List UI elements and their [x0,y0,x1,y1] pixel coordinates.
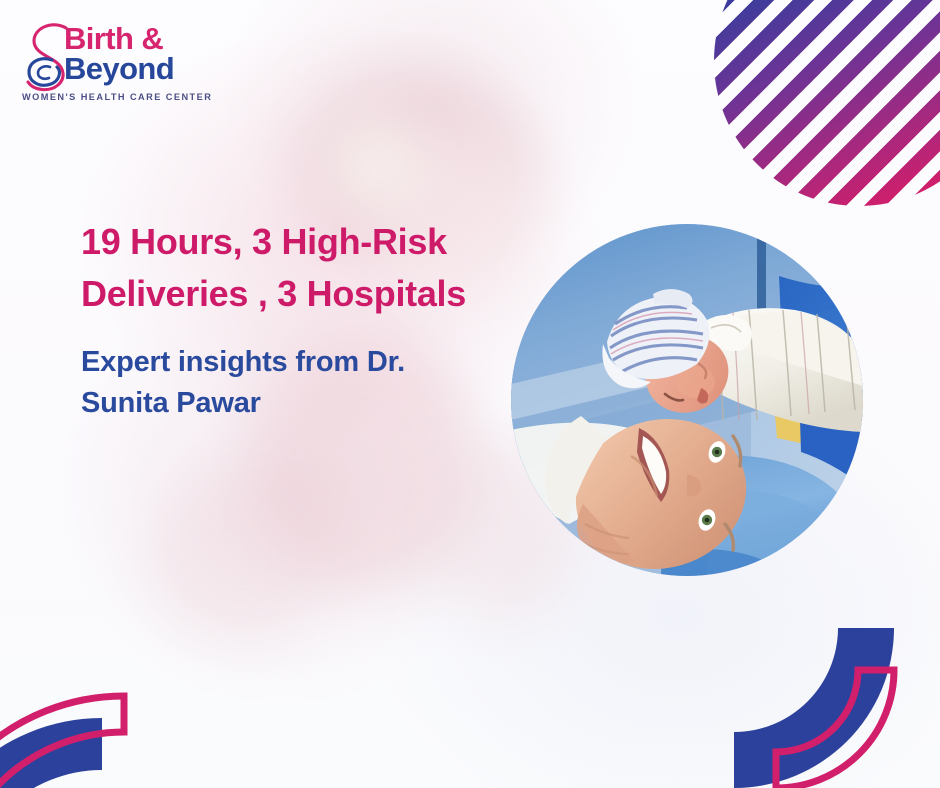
background-watermark-blob [330,120,420,210]
brand-logo: Birth & Beyond WOMEN'S HEALTH CARE CENTE… [18,22,248,108]
copy-block: 19 Hours, 3 High-Risk Deliveries , 3 Hos… [81,216,481,424]
logo-line-beyond: Beyond [64,54,174,84]
social-card-canvas: Birth & Beyond WOMEN'S HEALTH CARE CENTE… [0,0,940,788]
headline: 19 Hours, 3 High-Risk Deliveries , 3 Hos… [81,216,481,320]
bottom-left-arc-decoration [0,598,222,788]
stripe-gradient-fill [714,0,940,206]
navy-arc-shape [734,628,894,788]
subheadline: Expert insights from Dr. Sunita Pawar [81,342,481,424]
striped-gradient-circle-decoration [714,0,940,206]
mother-and-newborn-photo [511,224,863,576]
logo-line-birth: Birth & [64,24,174,54]
logo-wordmark: Birth & Beyond [64,24,174,85]
photo-illustration [511,224,863,576]
logo-tagline: WOMEN'S HEALTH CARE CENTER [22,92,212,102]
bottom-right-arc-decoration [724,592,940,788]
